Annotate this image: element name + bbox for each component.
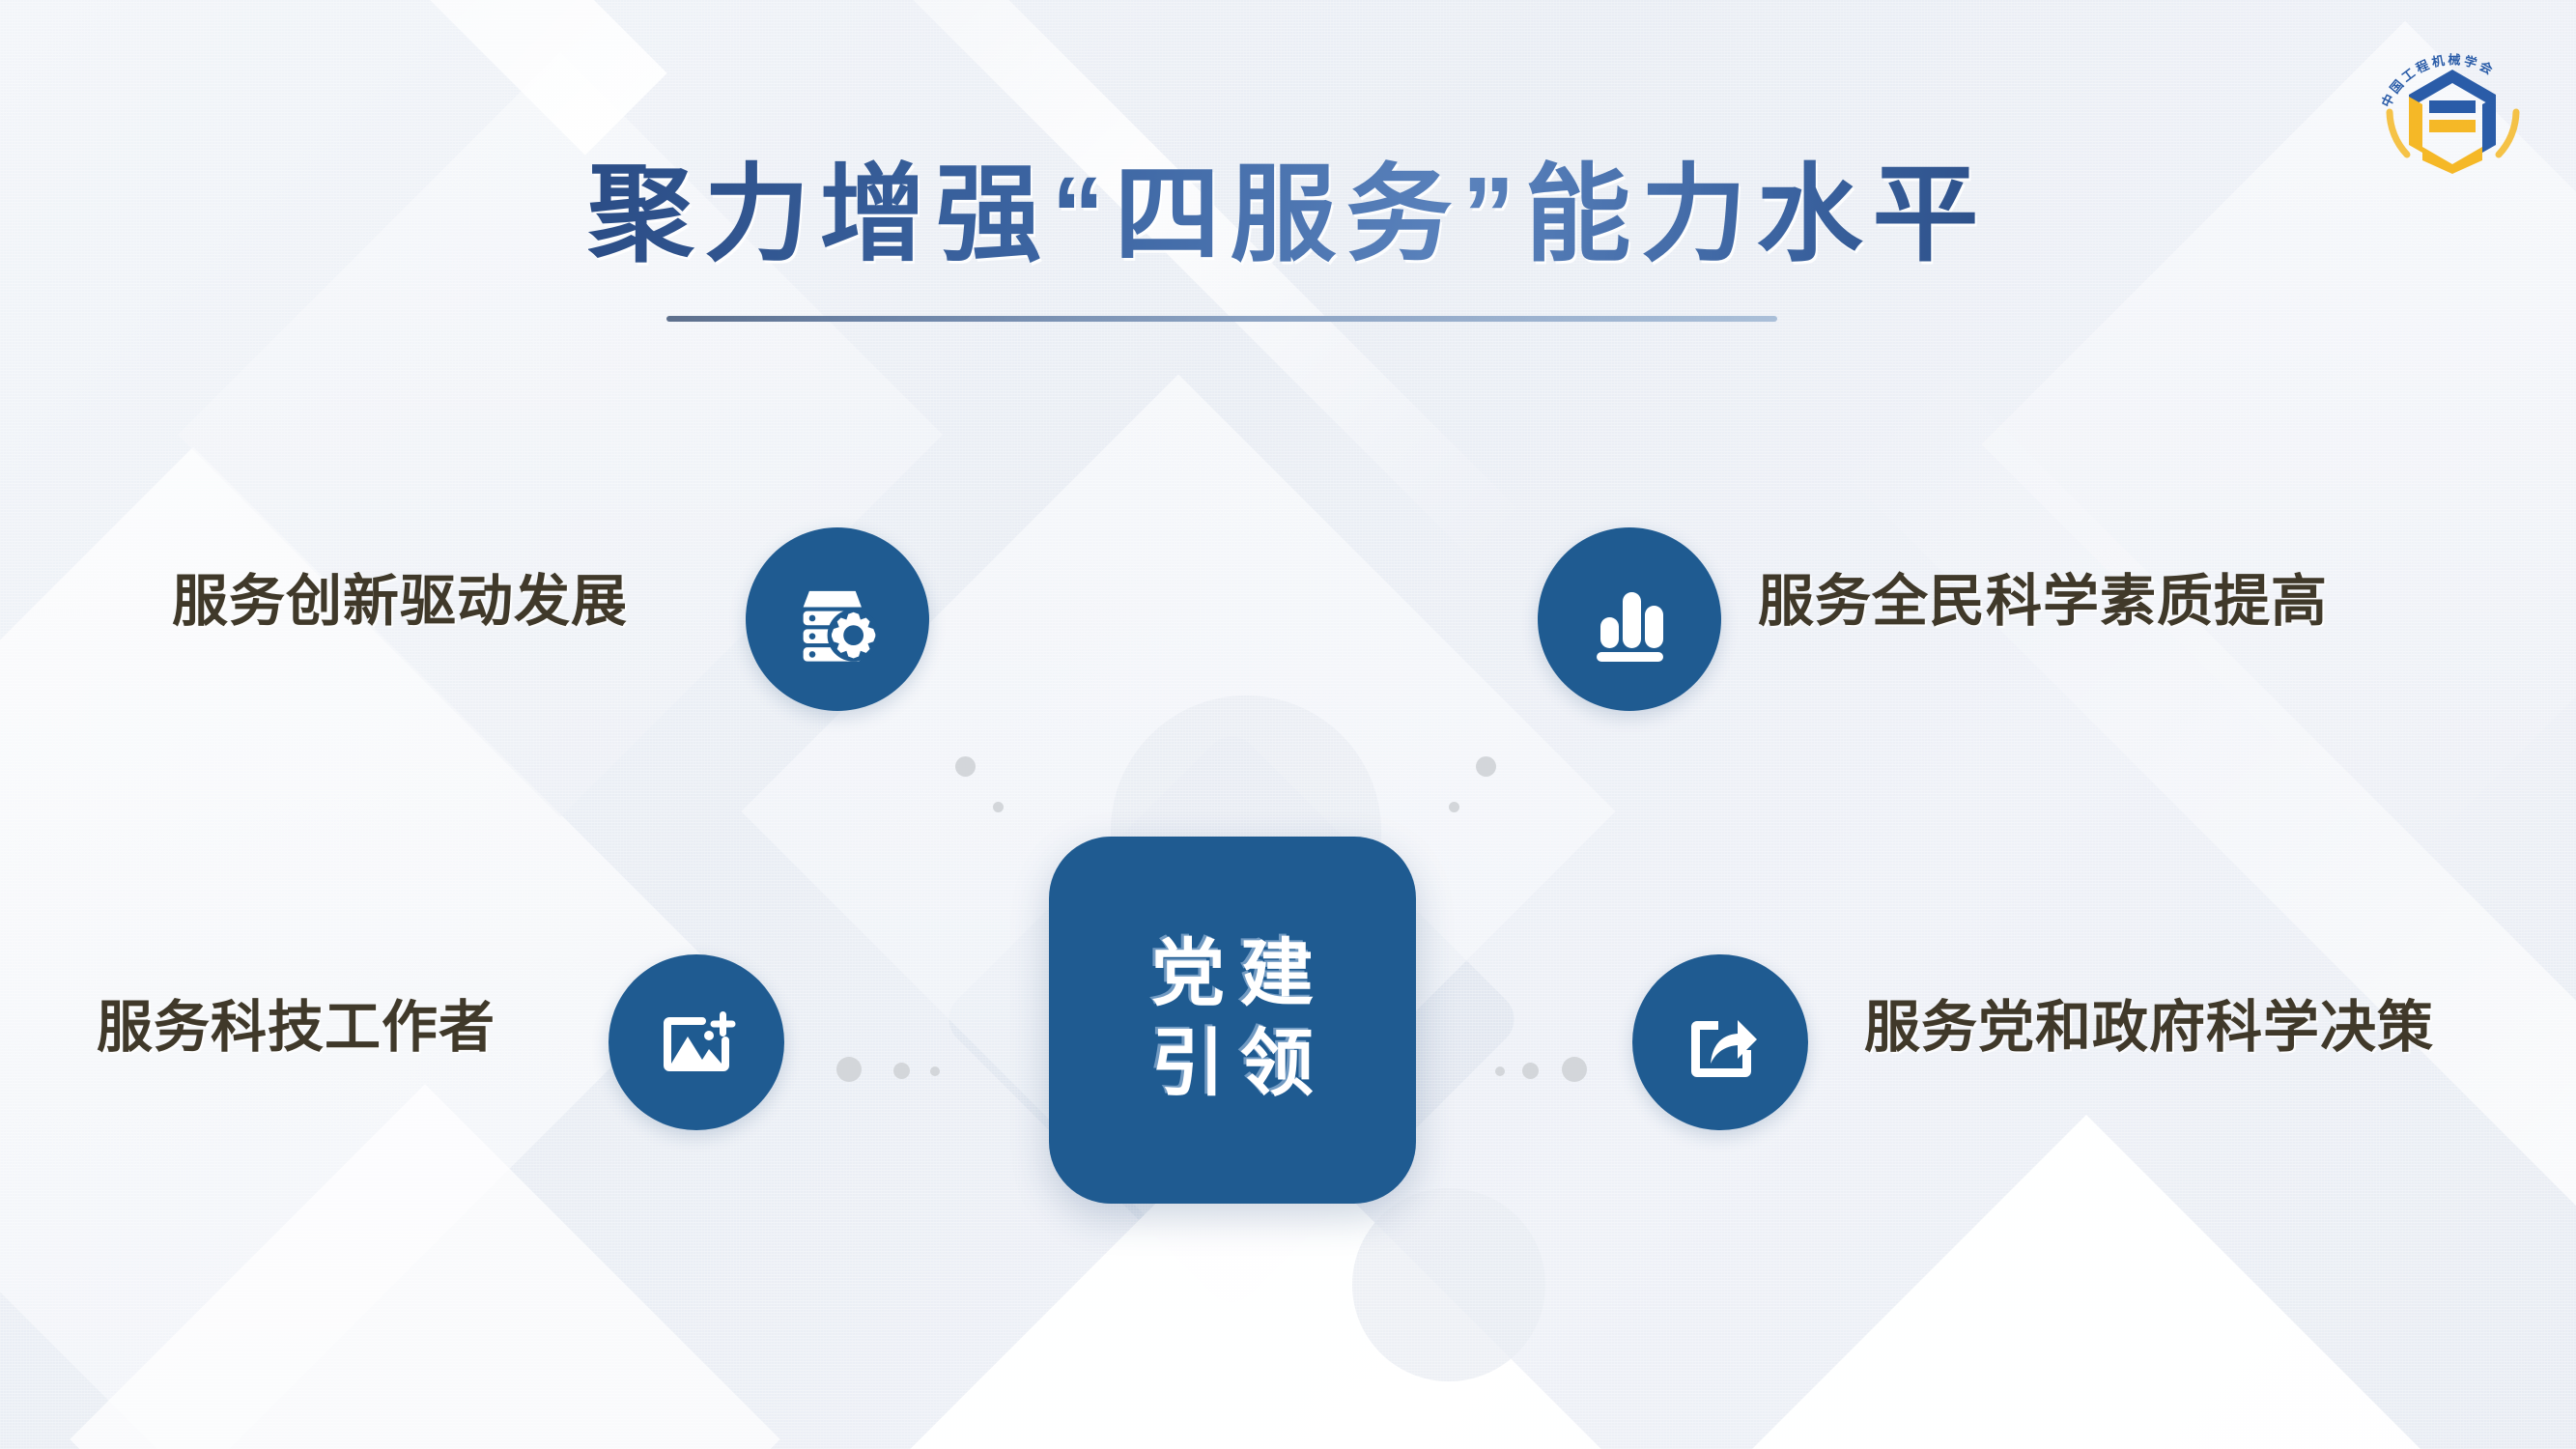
- decor-dot-upper-right: [1476, 756, 1496, 777]
- connector-dot-right-2: [1522, 1063, 1539, 1079]
- connector-dot-left-1: [836, 1057, 862, 1082]
- share-export-icon: [1672, 994, 1769, 1091]
- decor-dot-upper-right-small: [1449, 802, 1459, 812]
- slide-canvas: 中国工程机械学会 聚力增强“四服务”能力水平 服务创新驱动发展: [0, 0, 2576, 1449]
- center-badge-line2: 引领: [1136, 1020, 1329, 1110]
- decor-dot-upper-left-small: [993, 802, 1004, 812]
- node-icon-innovation[interactable]: [746, 527, 929, 711]
- connector-dot-right-1: [1495, 1066, 1505, 1076]
- add-image-icon: [648, 994, 745, 1091]
- title-underline: [666, 316, 1777, 322]
- node-label-sci-tech-workers: 服务科技工作者: [97, 1000, 495, 1056]
- background-texture: [0, 0, 2576, 1449]
- center-badge-line1: 党建: [1136, 930, 1329, 1020]
- bar-chart-icon: [1581, 571, 1678, 668]
- server-gear-icon: [787, 569, 888, 669]
- connector-dot-left-2: [893, 1063, 910, 1079]
- organization-logo: 中国工程机械学会: [2368, 19, 2537, 174]
- connector-dot-right-3: [1562, 1057, 1587, 1082]
- node-label-decision-making: 服务党和政府科学决策: [1864, 1000, 2434, 1056]
- node-label-science-literacy: 服务全民科学素质提高: [1758, 574, 2328, 630]
- connector-dot-left-3: [930, 1066, 940, 1076]
- node-icon-science-literacy[interactable]: [1538, 527, 1721, 711]
- node-label-innovation: 服务创新驱动发展: [172, 574, 628, 630]
- center-badge[interactable]: 党建 引领: [1049, 837, 1416, 1204]
- decor-dot-upper-left: [955, 756, 976, 777]
- node-icon-decision-making[interactable]: [1632, 954, 1808, 1130]
- node-icon-sci-tech-workers[interactable]: [609, 954, 784, 1130]
